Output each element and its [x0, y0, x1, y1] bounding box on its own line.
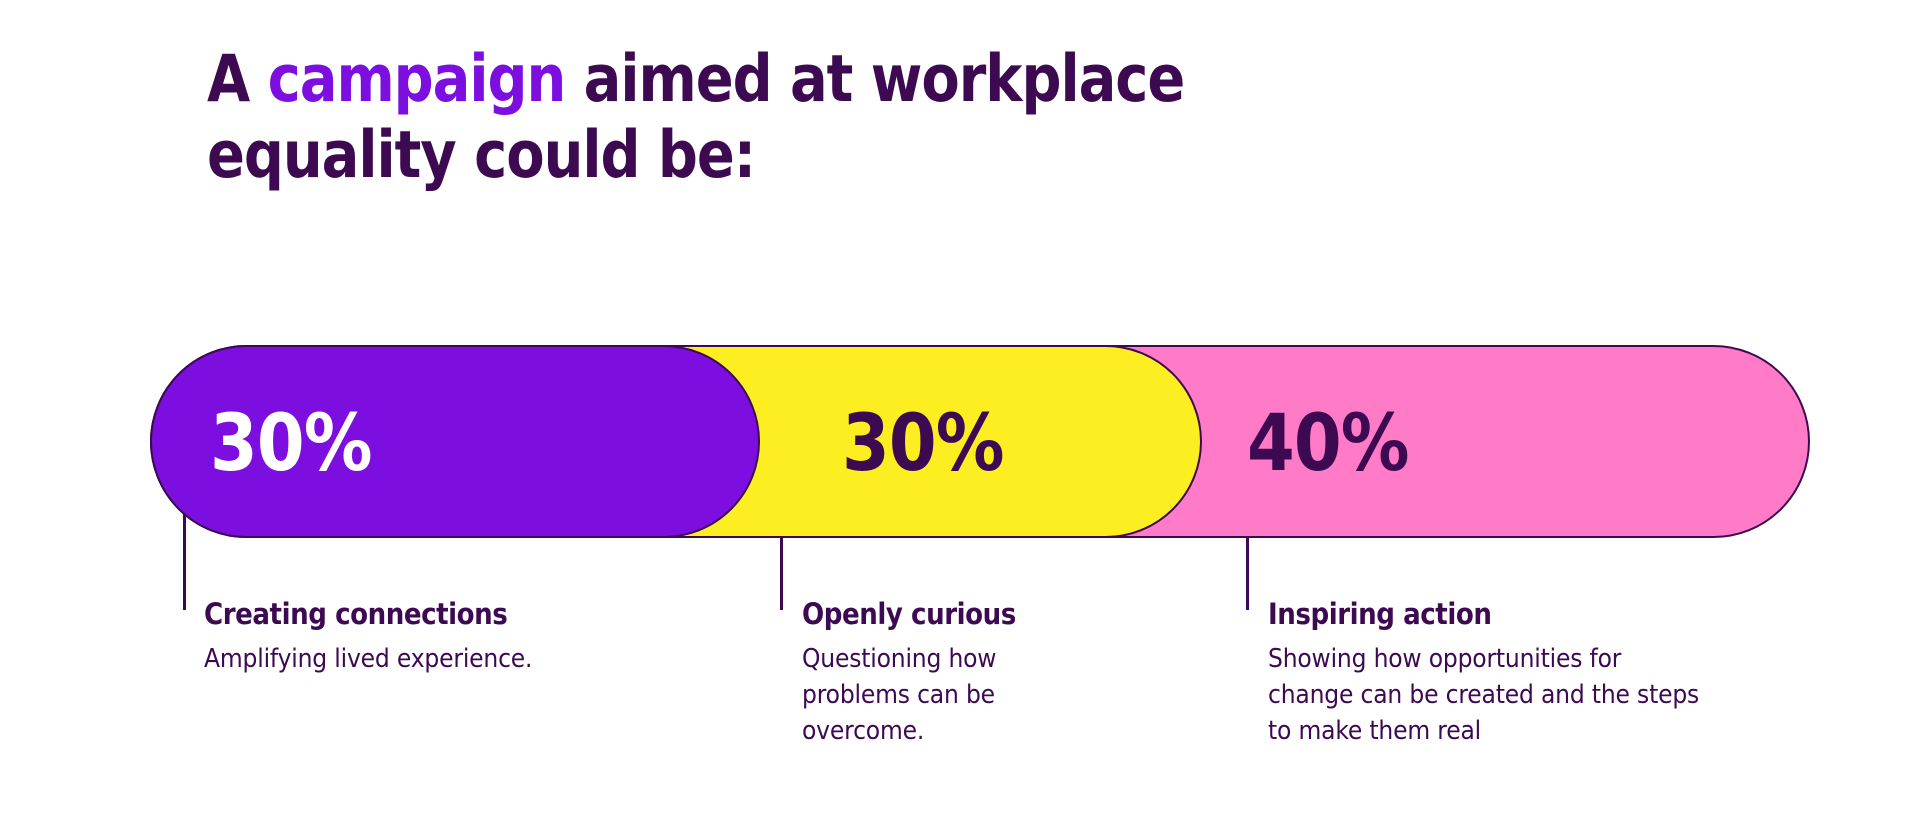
- bar-segment-value-label-3: 40%: [1247, 401, 1409, 483]
- legend-item-inspiring-action: Inspiring action Showing how opportuniti…: [1268, 598, 1738, 749]
- legend-item-creating-connections: Creating connections Amplifying lived ex…: [204, 598, 674, 677]
- legend-description-3: Showing how opportunities for change can…: [1268, 641, 1700, 750]
- page-title: A campaign aimed at workplace equality c…: [207, 42, 1325, 194]
- page-title-text-after: aimed at workplace: [565, 42, 1184, 117]
- legend-description-1: Amplifying lived experience.: [204, 641, 636, 677]
- bar-segment-value-label-2: 30%: [842, 401, 1004, 483]
- page-title-line-2: equality could be:: [207, 118, 1325, 194]
- page-title-accent-word: campaign: [268, 42, 566, 117]
- legend-heading-1: Creating connections: [204, 598, 627, 632]
- bar-segment-value-label-1: 30%: [210, 401, 372, 483]
- legend-item-openly-curious: Openly curious Questioning how problems …: [802, 598, 1077, 749]
- legend-heading-3: Inspiring action: [1268, 598, 1691, 632]
- page-title-text-before: A: [207, 42, 268, 117]
- legend-heading-2: Openly curious: [802, 598, 1050, 632]
- page-title-line-1: A campaign aimed at workplace: [207, 42, 1325, 118]
- infographic-canvas: A campaign aimed at workplace equality c…: [0, 0, 1920, 832]
- bar-segment-creating-connections[interactable]: 30%: [150, 345, 760, 538]
- legend-description-2: Questioning how problems can be overcome…: [802, 641, 1055, 750]
- stacked-bar-chart: 40% 30% 30%: [150, 345, 1810, 538]
